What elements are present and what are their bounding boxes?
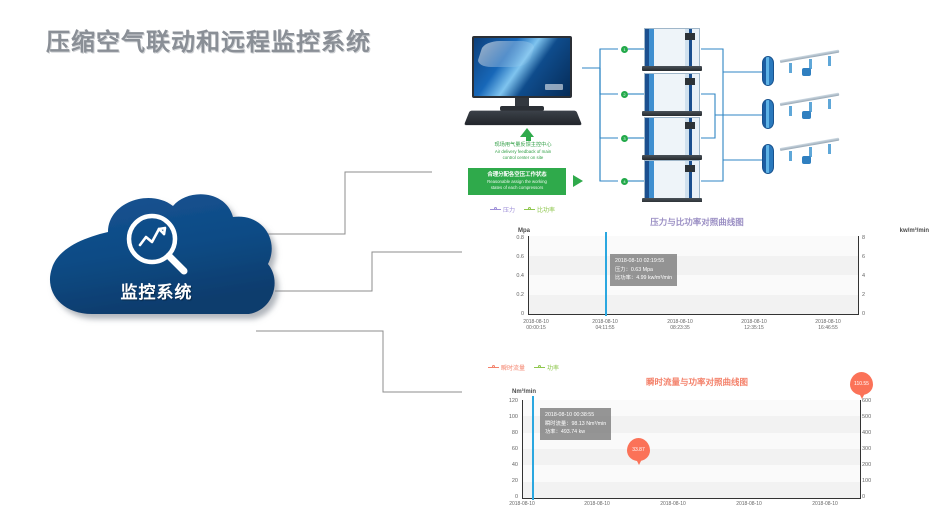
x-tick: 2018-08-10: [719, 501, 779, 507]
status-node[interactable]: 2: [621, 91, 628, 98]
y-tick: 0: [494, 494, 518, 500]
compressor-body: [644, 73, 700, 112]
legend-marker-icon: [534, 365, 545, 371]
legend-label: 压力: [503, 205, 515, 214]
y2-tick: 500: [862, 414, 886, 420]
legend-label: 瞬时流量: [501, 363, 525, 372]
tooltip-row1: 瞬时流量：98.13 Nm³/min: [545, 420, 606, 429]
legend-label: 比功率: [537, 205, 555, 214]
slide-canvas: 压缩空气联动和远程监控系统: [0, 0, 945, 529]
tooltip-row1: 压力：0.63 Mpa: [615, 266, 672, 275]
compressor-panel: [685, 78, 695, 85]
legend-item-pressure[interactable]: 压力: [490, 205, 515, 214]
compressor-base: [642, 111, 702, 116]
compressor-unit: [644, 160, 700, 203]
y-tick: 0.2: [502, 292, 524, 298]
chart1-y-unit: Mpa: [518, 228, 530, 234]
chart2-cursor-line[interactable]: [532, 396, 534, 500]
chart1-x-axis: [528, 314, 859, 315]
x-tick: 2018-08-10 16:46:55: [798, 319, 858, 332]
x-tick: 2018-08-10 04:11:55: [575, 319, 635, 332]
chart1-cursor-line[interactable]: [605, 232, 607, 316]
chart1-title: 压力与比功率对照曲线图: [462, 216, 932, 228]
compressor-base: [642, 66, 702, 71]
legend-item-flow[interactable]: 瞬时流量: [488, 363, 525, 372]
air-tool-icon: [802, 111, 811, 119]
y-tick: 0.8: [502, 235, 524, 241]
status-node[interactable]: 4: [621, 178, 628, 185]
compressor-panel: [685, 122, 695, 129]
air-tank-icon: [762, 144, 774, 174]
pipe-drop: [789, 151, 792, 161]
y2-tick: 8: [862, 235, 884, 241]
tooltip-time: 2018-08-10 00:38:55: [545, 411, 606, 420]
x-tick-time: 12:35:15: [724, 325, 784, 331]
chart2-x-axis: [522, 498, 861, 499]
air-tank-icon: [762, 56, 774, 86]
y-tick: 0: [502, 311, 524, 317]
flow-power-chart: 瞬时流量 功率 瞬时流量与功率对照曲线图 Nm³/min 120 100 80 …: [462, 360, 932, 529]
pipe-drop: [828, 99, 831, 109]
x-tick: 2018-08-10: [492, 501, 552, 507]
pipe-drop: [828, 56, 831, 66]
chart2-y2-axis: [860, 400, 861, 499]
air-tank-icon: [762, 99, 774, 129]
legend-marker-icon: [488, 365, 499, 371]
cloud-label: 监控系统: [30, 278, 283, 303]
legend-marker-icon: [490, 207, 501, 213]
y-tick: 120: [494, 398, 518, 404]
chart1-y2-unit: kw/m³/min: [900, 228, 929, 234]
pressure-power-chart: 压力 比功率 压力与比功率对照曲线图 Mpa kw/m³/min 0.8 0.6…: [462, 202, 932, 335]
chart2-legend: 瞬时流量 功率: [488, 363, 559, 372]
status-node[interactable]: 3: [621, 135, 628, 142]
y2-tick: 2: [862, 292, 884, 298]
chart1-tooltip: 2018-08-10 02:19:55 压力：0.63 Mpa 比功率：4.99…: [610, 254, 677, 286]
x-tick-time: 00:00:15: [506, 325, 566, 331]
chart1-y-axis: [528, 236, 529, 315]
compressor-body: [644, 160, 700, 199]
compressor-panel: [685, 165, 695, 172]
chart2-y-unit: Nm³/min: [512, 389, 536, 395]
legend-marker-icon: [524, 207, 535, 213]
air-tool-icon: [802, 68, 811, 76]
chart1-y2-axis: [858, 236, 859, 315]
chart1-legend: 压力 比功率: [490, 205, 555, 214]
chart2-marker-max[interactable]: 110.55: [850, 372, 873, 395]
chart2-marker-min[interactable]: 33.87: [627, 438, 650, 461]
y-tick: 100: [494, 414, 518, 420]
y2-tick: 0: [862, 311, 884, 317]
compressor-unit: [644, 28, 700, 71]
y2-tick: 6: [862, 254, 884, 260]
y-tick: 60: [494, 446, 518, 452]
y-tick: 40: [494, 462, 518, 468]
system-topology-diagram: 现场用气量反馈主控中心 Air delivery feedback of mai…: [432, 20, 945, 205]
y-tick: 80: [494, 430, 518, 436]
x-tick-time: 08:23:35: [650, 325, 710, 331]
pipe-drop: [828, 144, 831, 154]
y2-tick: 0: [862, 494, 886, 500]
compressor-panel: [685, 33, 695, 40]
legend-item-specific-power[interactable]: 比功率: [524, 205, 555, 214]
x-tick: 2018-08-10 08:23:35: [650, 319, 710, 332]
y2-tick: 200: [862, 462, 886, 468]
legend-item-power[interactable]: 功率: [534, 363, 559, 372]
pipe-drop: [789, 106, 792, 116]
compressor-body: [644, 117, 700, 156]
x-tick: 2018-08-10 12:35:15: [724, 319, 784, 332]
y2-tick: 100: [862, 478, 886, 484]
tooltip-row2: 功率：493.74 kw: [545, 428, 606, 437]
compressor-body: [644, 28, 700, 67]
y2-tick: 4: [862, 273, 884, 279]
x-tick-time: 04:11:55: [575, 325, 635, 331]
chart1-plot-area[interactable]: [528, 236, 858, 314]
y-tick: 20: [494, 478, 518, 484]
x-tick: 2018-08-10: [643, 501, 703, 507]
monitoring-cloud[interactable]: 监控系统: [30, 186, 295, 336]
tooltip-row2: 比功率：4.99 kw/m³/min: [615, 274, 672, 283]
compressor-unit: [644, 73, 700, 116]
x-tick: 2018-08-10: [795, 501, 855, 507]
x-tick-time: 16:46:55: [798, 325, 858, 331]
air-tool-icon: [802, 156, 811, 164]
x-tick: 2018-08-10 00:00:15: [506, 319, 566, 332]
y-tick: 0.4: [502, 273, 524, 279]
y2-tick: 400: [862, 430, 886, 436]
chart2-tooltip: 2018-08-10 00:38:55 瞬时流量：98.13 Nm³/min 功…: [540, 408, 611, 440]
legend-label: 功率: [547, 363, 559, 372]
y-tick: 0.6: [502, 254, 524, 260]
chart2-y-axis: [522, 400, 523, 499]
compressor-unit: [644, 117, 700, 160]
y2-tick: 300: [862, 446, 886, 452]
status-node[interactable]: 1: [621, 46, 628, 53]
tooltip-time: 2018-08-10 02:19:55: [615, 257, 672, 266]
magnifier-chart-icon: [122, 212, 194, 278]
pipe-drop: [789, 63, 792, 73]
x-tick: 2018-08-10: [567, 501, 627, 507]
